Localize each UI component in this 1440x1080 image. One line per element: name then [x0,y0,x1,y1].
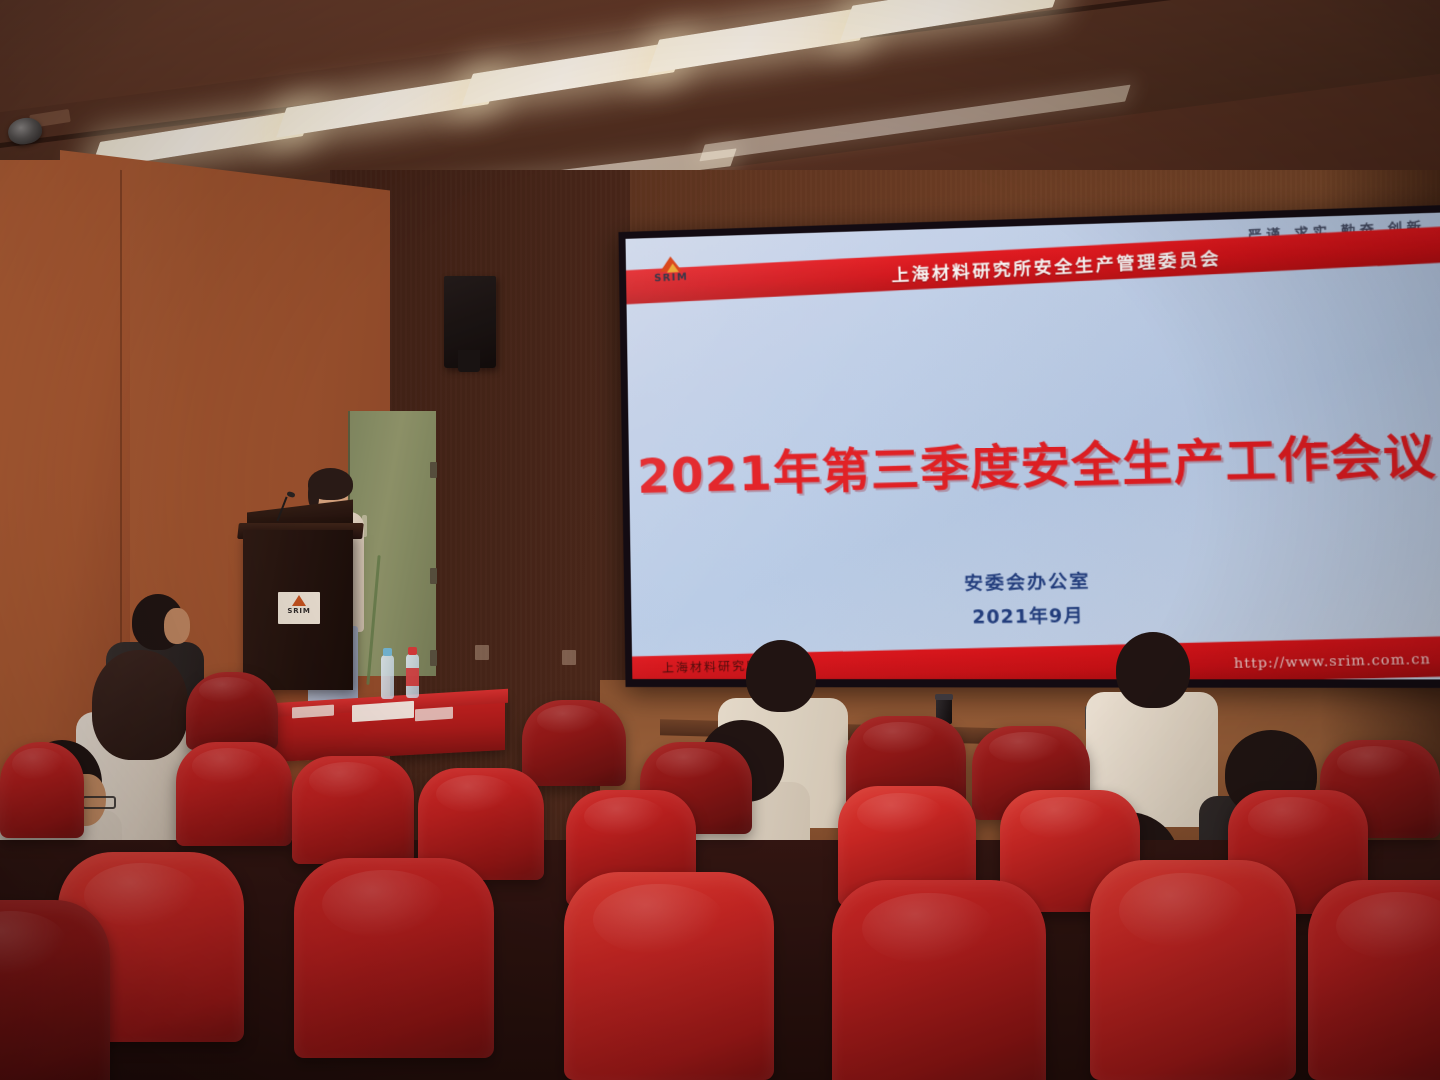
chair[interactable] [1308,880,1440,1080]
water-bottle-red-label [406,654,419,698]
chair[interactable] [294,858,494,1058]
chair[interactable] [522,700,626,786]
conference-room-photo: 严谨 求实 勤奋 创新 上海材料研究所安全生产管理委员会 SRIM 2021年第… [0,0,1440,1080]
water-bottle-blue-cap [381,655,394,699]
chair[interactable] [832,880,1046,1080]
slide-title: 2021年第三季度安全生产工作会议 [628,415,1440,507]
wall-speaker-icon [444,276,496,368]
slide-subtitle-org: 安委会办公室 [631,560,1440,601]
chair[interactable] [292,756,414,864]
podium-srim-plaque: SRIM [278,592,320,624]
wall-outlet-right [562,650,576,665]
chair[interactable] [0,900,110,1080]
slide-subtitle-date: 2021年9月 [631,596,1440,635]
podium-srim-mark-icon [292,595,306,606]
person-head [1116,632,1190,708]
projection-screen[interactable]: 严谨 求实 勤奋 创新 上海材料研究所安全生产管理委员会 SRIM 2021年第… [618,205,1440,688]
srim-logo: SRIM [642,255,699,285]
srim-mark-icon [659,256,682,272]
bottle-cap-red [408,647,417,655]
chair[interactable] [564,872,774,1080]
person-face [164,608,190,644]
person-hair [92,650,188,760]
presentation-slide: 严谨 求实 勤奋 创新 上海材料研究所安全生产管理委员会 SRIM 2021年第… [626,213,1440,680]
screen-surface: 严谨 求实 勤奋 创新 上海材料研究所安全生产管理委员会 SRIM 2021年第… [626,213,1440,680]
person-head [746,640,816,712]
bottle-cap-blue [383,648,392,656]
door-hinge-bottom [430,650,437,666]
thermos-lid [935,694,953,700]
bottle-label [406,668,419,686]
slide-header-text: 上海材料研究所安全生产管理委员会 [891,243,1222,286]
door-hinge-mid [430,568,437,584]
chair[interactable] [176,742,292,846]
chair[interactable] [1090,860,1296,1080]
chair[interactable] [186,672,278,750]
wall-outlet-left [475,645,489,660]
podium-plaque-text: SRIM [278,607,320,615]
glasses-icon [82,796,116,809]
slide-header-band: 上海材料研究所安全生产管理委员会 [626,223,1440,305]
chair[interactable] [0,742,84,838]
door-hinge-top [430,462,437,478]
